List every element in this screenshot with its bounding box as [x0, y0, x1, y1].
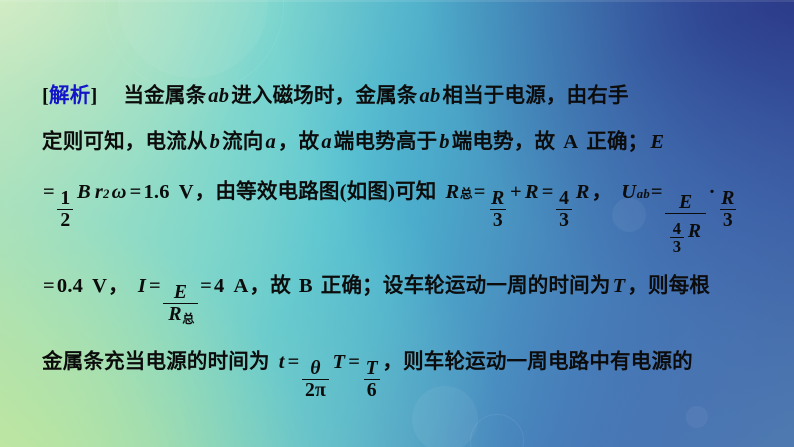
line4-current-value: 4 [213, 275, 225, 298]
line3-equals-2: = [129, 181, 143, 204]
line2-variable-b: b [208, 131, 222, 154]
line2-segment-d: 端电势高于 [334, 124, 438, 154]
fraction-r-over-three-denominator: 3 [490, 209, 506, 230]
line4-equals-2: = [148, 275, 162, 298]
line3-variable-voltage-u: U [619, 181, 636, 204]
line2-segment-a: 定则可知，电流从 [42, 124, 208, 154]
fraction-e-numerator: E [676, 192, 695, 212]
fraction-theta-numerator: θ [307, 358, 323, 378]
line3-unit-volt: V [178, 181, 195, 204]
line4-comma-1: ， [108, 268, 129, 298]
line2-choice-a: A [562, 131, 579, 154]
line4-unit-ampere: A [232, 275, 249, 298]
fraction-e-over-r-total-denominator: R总 [163, 303, 197, 326]
nested-fraction-variable-r: R [686, 220, 703, 242]
line4-equals-1: = [42, 275, 56, 298]
line4-segment-a: 故 [270, 268, 291, 298]
line1-segment-b: 进入磁场时，金属条 [231, 78, 417, 108]
analysis-tag-open: [ [42, 85, 49, 108]
line3-plus-sign: + [509, 181, 523, 204]
line4-unit-volt: V [91, 275, 108, 298]
denominator-subscript-total: 总 [182, 312, 195, 326]
nested-fraction-denominator: 3 [670, 237, 685, 255]
analysis-tag-close: ] [90, 85, 97, 108]
fraction-r-over-three-second: R 3 [718, 188, 737, 230]
line1-segment-a: 当金属条 [123, 78, 206, 108]
line3-variable-r-3: R [574, 181, 592, 204]
line5-equals-1: = [287, 351, 301, 374]
line4-choice-b: B [298, 275, 314, 298]
fraction-four-thirds-numerator: 4 [556, 188, 572, 208]
fraction-one-half: 1 2 [57, 188, 73, 230]
fraction-e-over-four-thirds-r: E 4 3 R [665, 192, 706, 250]
fraction-one-half-numerator: 1 [57, 188, 73, 208]
line3-segment-a: 由等效电路图(如图)可知 [215, 174, 436, 204]
line5-variable-time-t: t [277, 351, 287, 374]
line5-equals-2: = [347, 351, 361, 374]
line3-equals-5: = [650, 181, 664, 204]
line2-variable-a-2: a [319, 131, 333, 154]
line3-subscript-total: 总 [459, 183, 472, 202]
line2-segment-f: 正确； [586, 124, 648, 154]
line5-comma: ， [382, 344, 403, 374]
solution-line-4: = 0.4 V ， I = E R总 = 4 A ， 故 B 正确；设车轮运动一… [42, 268, 770, 320]
line3-subscript-ab: ab [636, 187, 650, 202]
fraction-two-pi-denominator: 2π [302, 379, 329, 400]
line5-variable-period-t: T [331, 351, 348, 374]
line5-segment-a: 金属条充当电源的时间为 [42, 344, 270, 374]
line3-comma-2: ， [592, 174, 613, 204]
fraction-four-thirds-denominator: 3 [556, 209, 572, 230]
line2-segment-b: 流向 [222, 124, 263, 154]
line2-variable-a: a [263, 131, 277, 154]
line3-multiplication-dot: · [708, 181, 717, 204]
fraction-r-over-three-numerator: R [488, 188, 507, 208]
nested-fraction-numerator: 4 [670, 220, 685, 237]
line5-segment-b: 则车轮运动一周电路中有电源的 [403, 344, 693, 374]
solution-body: [解析] 当金属条 ab 进入磁场时，金属条 ab 相当于电源，由右手 定则可知… [0, 0, 794, 447]
fraction-e-over-r-total-numerator: E [171, 282, 190, 302]
line3-equals-4: = [541, 181, 555, 204]
analysis-tag-label: 解析 [49, 78, 90, 108]
fraction-one-half-denominator: 2 [57, 209, 73, 230]
fraction-t-over-six: T 6 [363, 358, 381, 400]
fraction-four-thirds: 4 3 [556, 188, 572, 230]
solution-line-2: 定则可知，电流从 b 流向 a ，故 a 端电势高于 b 端电势，故 A 正确；… [42, 124, 770, 154]
line4-equals-3: = [199, 275, 213, 298]
line3-variable-omega: ω [110, 181, 129, 204]
line1-variable-ab-2: ab [418, 85, 443, 108]
fraction-t-over-six-numerator: T [363, 358, 381, 378]
fraction-r-over-three-second-denominator: 3 [720, 209, 736, 230]
line2-variable-b-2: b [437, 131, 451, 154]
solution-line-1: [解析] 当金属条 ab 进入磁场时，金属条 ab 相当于电源，由右手 [42, 78, 770, 108]
denominator-variable-r: R [166, 303, 181, 325]
fraction-r-over-three: R 3 [488, 188, 507, 230]
solution-line-3: = 1 2 B r 2 ω = 1.6 V ， 由等效电路图(如图)可知 R 总… [42, 174, 770, 240]
line3-comma-1: ， [195, 174, 216, 204]
line3-variable-r-2: R [523, 181, 541, 204]
solution-line-5: 金属条充当电源的时间为 t = θ 2π T = T 6 ， 则车轮运动一周电路… [42, 344, 770, 394]
fraction-r-over-three-second-numerator: R [718, 188, 737, 208]
line2-segment-e: 端电势，故 [452, 124, 556, 154]
line3-equals-1: = [42, 181, 56, 204]
nested-fraction-four-thirds: 4 3 [670, 220, 685, 256]
line4-comma-2: ， [250, 268, 271, 298]
fraction-e-over-r-total: E R总 [163, 282, 197, 326]
slide-canvas: [解析] 当金属条 ab 进入磁场时，金属条 ab 相当于电源，由右手 定则可知… [0, 0, 794, 447]
line1-segment-c: 相当于电源，由右手 [442, 78, 628, 108]
line4-segment-b: 正确；设车轮运动一周的时间为 [321, 268, 611, 298]
line3-emf-value: 1.6 [142, 181, 170, 204]
fraction-theta-over-two-pi: θ 2π [302, 358, 329, 400]
line4-voltage-value: 0.4 [56, 275, 84, 298]
line2-variable-emf: E [648, 131, 666, 154]
line3-variable-radius: r [93, 181, 103, 204]
line3-variable-r: R [444, 181, 460, 204]
line2-segment-c: ，故 [278, 124, 319, 154]
line3-variable-b-field: B [75, 181, 93, 204]
line4-segment-c: ，则每根 [627, 268, 710, 298]
fraction-t-over-six-denominator: 6 [364, 379, 380, 400]
line1-variable-ab: ab [206, 85, 231, 108]
line4-variable-period-t: T [611, 275, 628, 298]
line4-variable-current-i: I [136, 275, 148, 298]
line3-equals-3: = [473, 181, 487, 204]
fraction-four-thirds-r-denominator: 4 3 R [665, 213, 706, 251]
